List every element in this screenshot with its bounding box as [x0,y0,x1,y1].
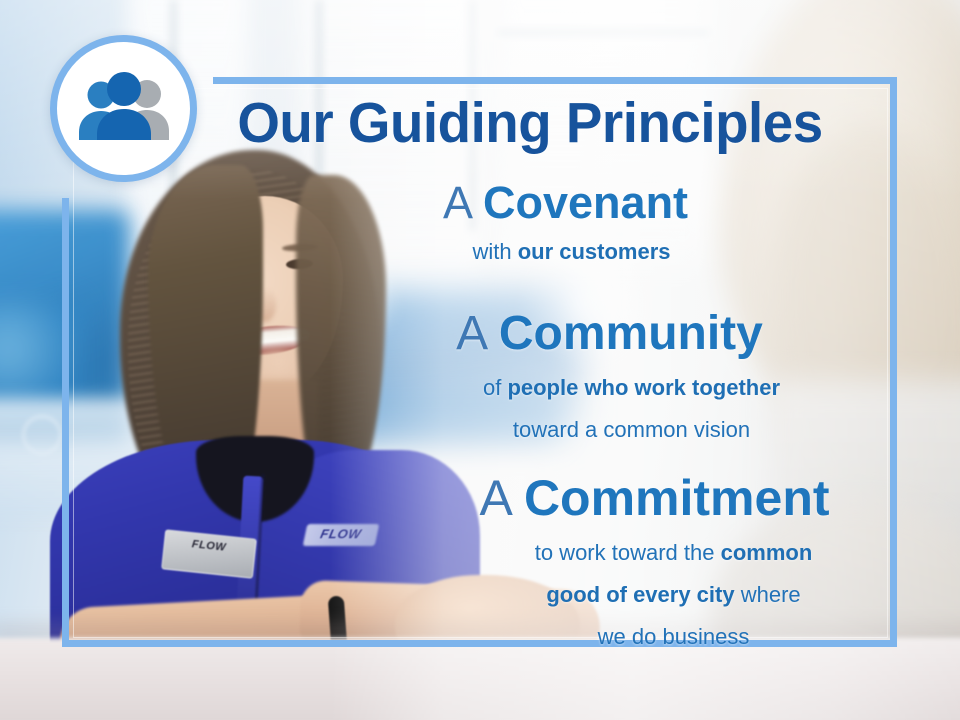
subline-part: of [483,375,507,400]
principle-commitment: A Commitment to work toward the common g… [200,473,897,650]
principle-article: A [456,307,485,360]
principle-article: A [479,470,510,526]
principle-word: Commitment [524,470,830,526]
subline-part: we do business [598,624,750,649]
principle-subline: good of every city where [200,582,897,608]
subline-part-bold: people who work together [507,375,780,400]
principle-subline: of people who work together [200,375,897,401]
principle-covenant: A Covenant with our customers [200,180,897,265]
subline-part: with [472,239,517,264]
window-mullion [498,30,708,35]
principle-article: A [443,177,471,228]
principle-word: Community [499,307,763,360]
people-group-icon [72,72,176,146]
principle-heading: A Covenant [200,180,897,226]
principle-heading: A Community [200,310,897,359]
content-text: Our Guiding Principles A Covenant with o… [200,77,897,647]
subline-part-bold: our customers [518,239,671,264]
principle-community: A Community of people who work together … [200,310,897,443]
guiding-principles-graphic: FLOW FLOW [0,0,960,720]
principle-subline: we do business [200,624,897,650]
principle-heading: A Commitment [200,473,897,524]
subline-part-bold: good of every city [546,582,734,607]
principle-subline: to work toward the common [200,540,897,566]
subline-part: toward a common vision [513,417,750,442]
page-title: Our Guiding Principles [213,95,847,152]
principle-subline: with our customers [200,239,897,265]
subline-part: where [735,582,801,607]
subline-part: to work toward the [535,540,721,565]
desk-surface [0,638,960,720]
subline-part-bold: common [721,540,813,565]
principle-word: Covenant [483,177,688,228]
people-group-badge [50,35,197,182]
principle-subline: toward a common vision [200,417,897,443]
